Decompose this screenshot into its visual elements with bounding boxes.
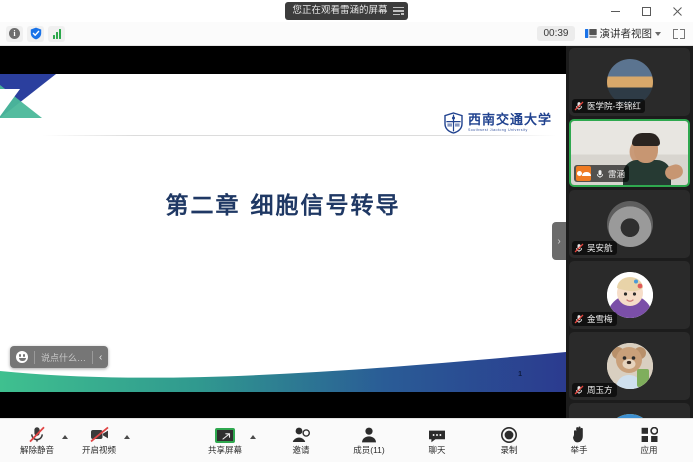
toolbar-unmute-button[interactable]: 解除静音	[14, 421, 60, 461]
record-icon	[501, 426, 517, 443]
toolbar-label: 成员(11)	[353, 445, 385, 455]
emoji-icon	[16, 351, 28, 363]
participant-name: 医学院-李锦红	[587, 100, 641, 112]
toolbar-label: 邀请	[292, 445, 309, 455]
share-screen-icon	[215, 426, 235, 443]
participant-name-chip: 金雪梅	[572, 312, 617, 326]
participants-icon	[361, 426, 377, 443]
chat-bubble-icon	[428, 426, 446, 443]
microphone-muted-icon	[574, 243, 584, 253]
participant-name: 雷涵	[608, 168, 625, 180]
encryption-button[interactable]	[27, 26, 44, 42]
shield-icon	[30, 27, 42, 40]
toolbar-label: 解除静音	[20, 445, 54, 455]
raise-hand-icon	[572, 426, 587, 443]
microphone-muted-icon	[574, 101, 584, 111]
microphone-muted-icon	[574, 385, 584, 395]
meeting-status-icons: i	[0, 26, 65, 42]
fullscreen-button[interactable]	[671, 27, 687, 41]
view-mode-button[interactable]: 演讲者视图	[581, 24, 666, 43]
slide-page-number: 1	[518, 371, 522, 378]
invite-person-icon	[292, 426, 310, 443]
minimize-button[interactable]	[600, 0, 631, 22]
meeting-window: 您正在观看雷涵的屏幕 i	[0, 0, 693, 462]
view-mode-label: 演讲者视图	[600, 26, 653, 41]
toolbar-label: 开启视频	[82, 445, 116, 455]
university-name-en: Southwest Jiaotong University	[468, 127, 552, 133]
filmstrip-collapse-handle[interactable]: ›	[552, 222, 566, 260]
close-button[interactable]	[662, 0, 693, 22]
participant-tile-active[interactable]: 雷涵	[569, 119, 690, 187]
meeting-info-bar: i 00:39 演讲者视图	[0, 22, 693, 46]
window-controls	[600, 0, 693, 22]
toolbar-label: 举手	[570, 445, 587, 455]
screen-share-banner-text: 您正在观看雷涵的屏幕	[292, 4, 387, 18]
info-icon: i	[9, 28, 20, 39]
screen-sharing-icon	[576, 166, 591, 181]
network-quality-button[interactable]	[48, 26, 65, 42]
toolbar-participants-button[interactable]: 成员(11)	[346, 421, 392, 461]
university-crest-icon	[444, 112, 463, 134]
share-options-chevron-icon[interactable]	[250, 435, 256, 439]
emoji-button[interactable]	[10, 346, 34, 368]
shared-screen-stage[interactable]: 西南交通大学 Southwest Jiaotong University 第二章…	[0, 46, 566, 418]
signal-bars-icon	[53, 29, 61, 39]
quick-chat-collapse-button[interactable]: ‹	[93, 346, 108, 368]
audio-options-chevron-icon[interactable]	[62, 435, 68, 439]
university-logo: 西南交通大学 Southwest Jiaotong University	[444, 112, 552, 134]
title-bar: 您正在观看雷涵的屏幕	[0, 0, 693, 22]
participant-name-chip: 医学院-李锦红	[572, 99, 645, 113]
participant-name: 吴安航	[587, 242, 613, 254]
banner-menu-icon[interactable]	[393, 6, 404, 17]
microphone-muted-icon	[29, 426, 45, 443]
quick-chat-input[interactable]: 说点什么…	[35, 346, 92, 368]
quick-chat-bar[interactable]: 说点什么… ‹	[10, 346, 108, 368]
screen-share-banner: 您正在观看雷涵的屏幕	[285, 2, 407, 20]
toolbar-label: 聊天	[428, 445, 445, 455]
toolbar-invite-button[interactable]: 邀请	[278, 421, 324, 461]
microphone-muted-icon	[574, 314, 584, 324]
meeting-toolbar: 解除静音 开启视频 共享屏幕	[0, 418, 693, 462]
chevron-down-icon[interactable]	[655, 32, 661, 36]
quick-chat-placeholder: 说点什么…	[41, 351, 86, 364]
toolbar-record-button[interactable]: 录制	[486, 421, 532, 461]
maximize-button[interactable]	[631, 0, 662, 22]
camera-off-icon	[90, 426, 109, 443]
meeting-view-controls: 00:39 演讲者视图	[537, 24, 693, 43]
participant-tile[interactable]: 吴安航	[569, 190, 690, 258]
participant-name: 周玉方	[587, 384, 613, 396]
toolbar-raise-hand-button[interactable]: 举手	[556, 421, 602, 461]
participant-name: 金雪梅	[587, 313, 613, 325]
apps-grid-icon	[641, 426, 658, 443]
toolbar-chat-button[interactable]: 聊天	[414, 421, 460, 461]
microphone-icon	[595, 169, 605, 179]
toolbar-share-screen-button[interactable]: 共享屏幕	[202, 421, 248, 461]
toolbar-label: 应用	[640, 445, 657, 455]
speaker-view-icon	[585, 28, 597, 39]
participants-filmstrip[interactable]: 医学院-李锦红	[566, 46, 693, 418]
participant-tile[interactable]: 医学院-李锦红	[569, 48, 690, 116]
meeting-timer: 00:39	[537, 26, 574, 41]
meeting-info-button[interactable]: i	[6, 26, 23, 42]
video-options-chevron-icon[interactable]	[124, 435, 130, 439]
slide-title: 第二章 细胞信号转导	[0, 186, 566, 220]
slide-header-rule	[42, 135, 556, 136]
participant-tile[interactable]: 金雪梅	[569, 261, 690, 329]
toolbar-apps-button[interactable]: 应用	[626, 421, 672, 461]
participant-tile-partial[interactable]	[569, 403, 690, 418]
person-silhouette	[625, 135, 669, 185]
toolbar-label: 共享屏幕	[208, 445, 242, 455]
toolbar-start-video-button[interactable]: 开启视频	[76, 421, 122, 461]
slide-corner-decoration	[0, 74, 60, 122]
toolbar-label: 录制	[500, 445, 517, 455]
participant-tile[interactable]: 周玉方	[569, 332, 690, 400]
participant-name-chip: 吴安航	[572, 241, 617, 255]
presentation-slide: 西南交通大学 Southwest Jiaotong University 第二章…	[0, 74, 566, 392]
university-name-cn: 西南交通大学	[468, 114, 552, 128]
participant-name-chip: 雷涵	[574, 165, 629, 182]
participant-name-chip: 周玉方	[572, 383, 617, 397]
